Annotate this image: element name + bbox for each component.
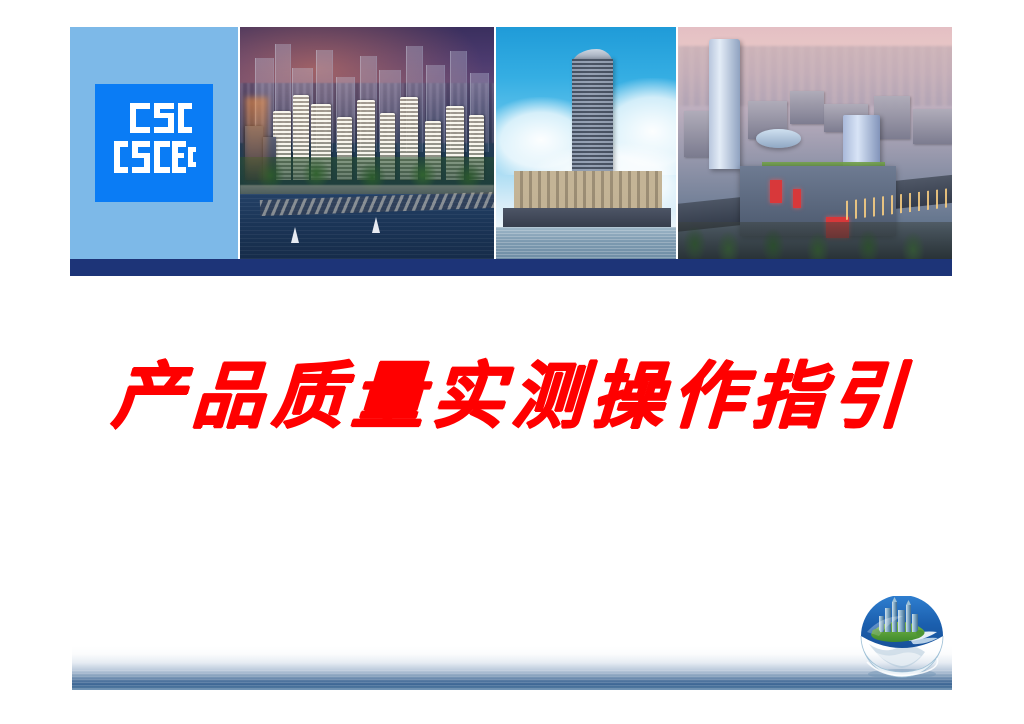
photo1-sailboat: [291, 227, 299, 243]
photo3-foreground-trees: [678, 222, 952, 259]
photo2-water-reflection: [496, 227, 676, 259]
header-banner: [70, 27, 952, 259]
header-photo-mixed-use-complex: [676, 27, 952, 259]
cscec-logo-glyph: [108, 97, 200, 189]
header-divider-bar: [70, 259, 952, 276]
globe-city-emblem: [845, 596, 959, 682]
title-block: 产品质量实测操作指引: [0, 360, 1024, 432]
cscec-logo: [95, 84, 213, 202]
photo2-podium-blocks: [514, 171, 662, 213]
photo3-facade-sign: [770, 180, 781, 203]
photo3-tower-left: [709, 39, 740, 169]
header-photo-waterfront-residential: [238, 27, 494, 259]
photo3-facade-sign: [793, 189, 801, 208]
page-title: 产品质量实测操作指引: [110, 360, 914, 432]
footer-water-band: [72, 646, 952, 690]
photo2-street-level: [503, 208, 670, 227]
title-slide: 产品质量实测操作指引: [0, 0, 1024, 724]
photo1-street-glow: [245, 97, 268, 190]
globe-city-emblem-graphic: [845, 596, 959, 682]
photo3-plaza-canopy: [756, 129, 801, 148]
photo1-sailboat: [372, 217, 380, 233]
header-photo-highrise-tower: [494, 27, 676, 259]
logo-panel: [70, 27, 238, 259]
